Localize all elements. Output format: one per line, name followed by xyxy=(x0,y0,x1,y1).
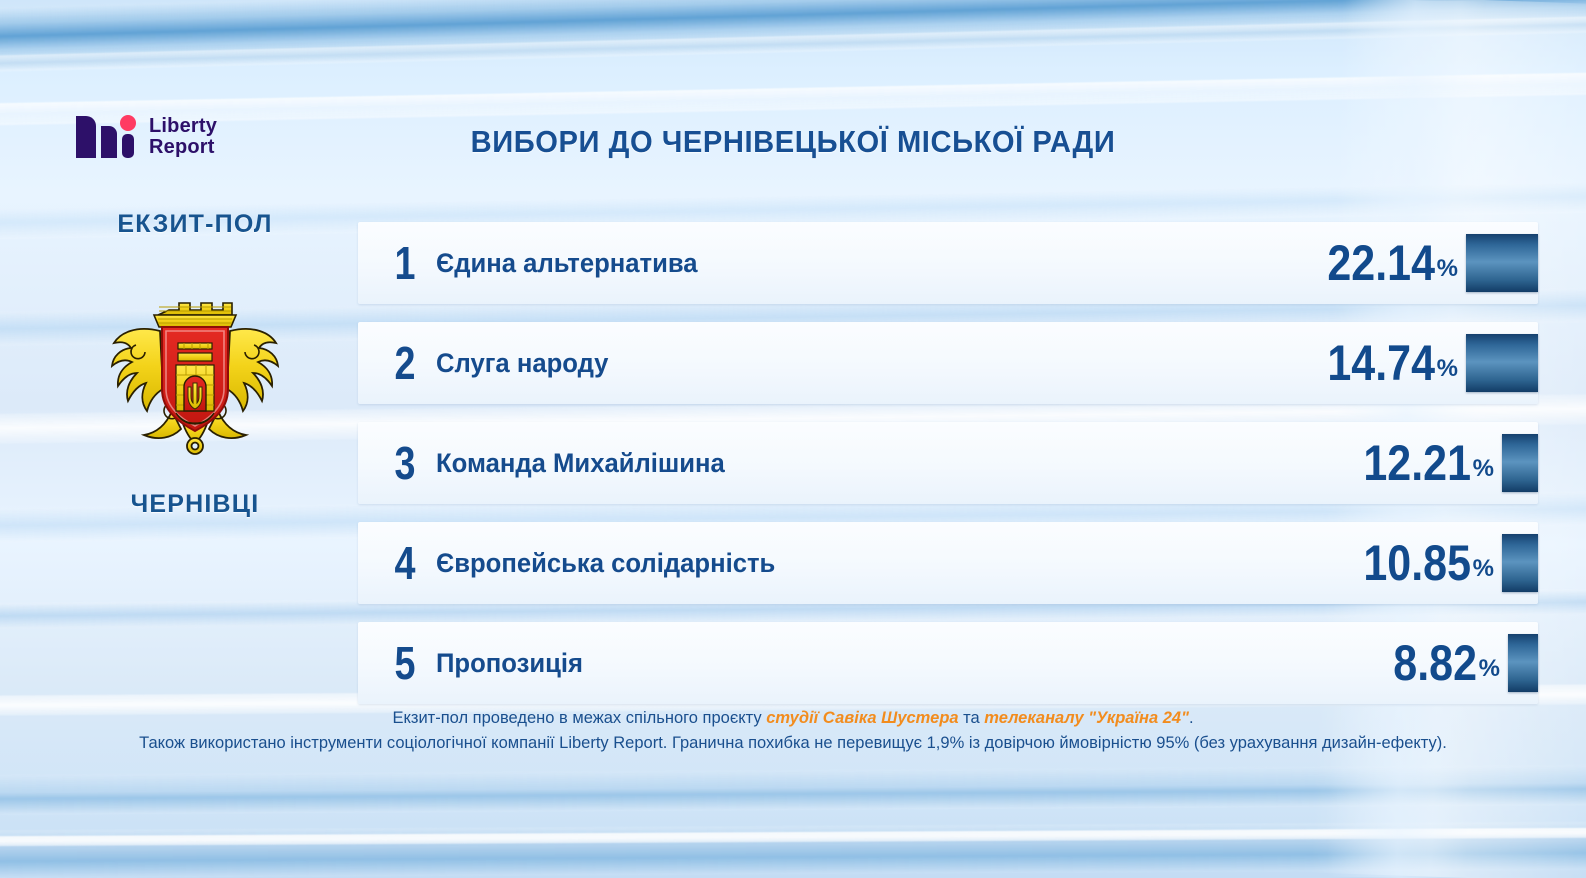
result-bar xyxy=(1502,434,1538,492)
footer-emphasis-studio: студії Савіка Шустера xyxy=(766,709,958,727)
sidebar-label-city: ЧЕРНІВЦІ xyxy=(60,490,330,519)
percent-sign: % xyxy=(1437,255,1458,283)
result-percent: 8.82 xyxy=(1332,638,1476,688)
result-party-name: Єдина альтернатива xyxy=(436,248,1225,279)
result-rank: 5 xyxy=(380,640,431,686)
footer-line-2: Також використано інструменти соціологіч… xyxy=(0,731,1586,756)
result-percent: 22.14 xyxy=(1290,238,1434,288)
result-percent: 12.21 xyxy=(1326,438,1470,488)
sidebar-label-exitpoll: ЕКЗИТ-ПОЛ xyxy=(60,210,330,239)
result-row: 4 Європейська солідарність 10.85 % xyxy=(358,522,1538,604)
footer-text-b: та xyxy=(959,709,985,727)
result-bar xyxy=(1466,334,1538,392)
result-row: 1 Єдина альтернатива 22.14 % xyxy=(358,222,1538,304)
result-party-name: Пропозиція xyxy=(436,648,1265,679)
result-value-group: 14.74 % xyxy=(1267,334,1538,392)
result-value-group: 12.21 % xyxy=(1303,434,1538,492)
footer-line-1: Екзит-пол проведено в межах спільного пр… xyxy=(0,706,1586,731)
percent-sign: % xyxy=(1479,655,1500,683)
result-row: 5 Пропозиція 8.82 % xyxy=(358,622,1538,704)
result-percent: 10.85 xyxy=(1326,538,1470,588)
footer-text-c: . xyxy=(1189,709,1194,727)
results-list: 1 Єдина альтернатива 22.14 % 2 Слуга нар… xyxy=(358,222,1538,722)
percent-sign: % xyxy=(1437,355,1458,383)
result-bar xyxy=(1466,234,1538,292)
sidebar: ЕКЗИТ-ПОЛ xyxy=(60,210,330,519)
result-party-name: Команда Михайлішина xyxy=(436,448,1259,479)
result-bar xyxy=(1508,634,1538,692)
result-row: 2 Слуга народу 14.74 % xyxy=(358,322,1538,404)
result-rank: 4 xyxy=(380,540,431,586)
result-party-name: Слуга народу xyxy=(436,348,1225,379)
footer: Екзит-пол проведено в межах спільного пр… xyxy=(0,706,1586,756)
percent-sign: % xyxy=(1473,555,1494,583)
page-title: ВИБОРИ ДО ЧЕРНІВЕЦЬКОЇ МІСЬКОЇ РАДИ xyxy=(48,124,1539,160)
footer-text-a: Екзит-пол проведено в межах спільного пр… xyxy=(392,709,766,727)
result-rank: 1 xyxy=(380,240,431,286)
result-value-group: 22.14 % xyxy=(1267,234,1538,292)
result-rank: 2 xyxy=(380,340,431,386)
percent-sign: % xyxy=(1473,455,1494,483)
result-rank: 3 xyxy=(380,440,431,486)
result-value-group: 8.82 % xyxy=(1309,634,1538,692)
result-party-name: Європейська солідарність xyxy=(436,548,1259,579)
result-bar xyxy=(1502,534,1538,592)
result-percent: 14.74 xyxy=(1290,338,1434,388)
result-value-group: 10.85 % xyxy=(1303,534,1538,592)
footer-emphasis-channel: телеканалу "Україна 24" xyxy=(984,709,1189,727)
infographic-root: Liberty Report ВИБОРИ ДО ЧЕРНІВЕЦЬКОЇ МІ… xyxy=(0,0,1586,878)
chernivtsi-coat-of-arms-icon xyxy=(100,281,290,456)
result-row: 3 Команда Михайлішина 12.21 % xyxy=(358,422,1538,504)
